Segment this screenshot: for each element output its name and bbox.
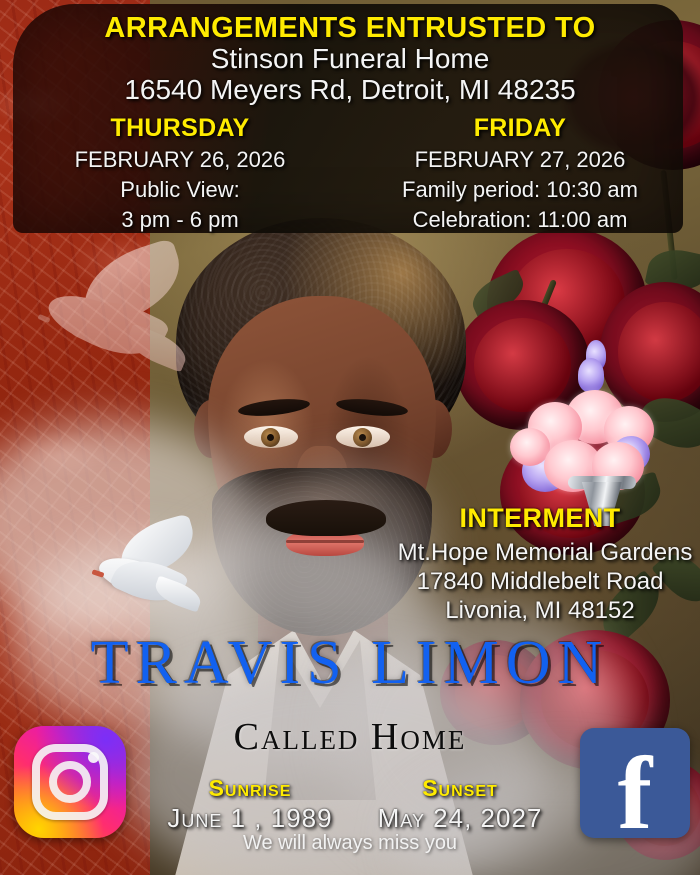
portrait-mouth-line bbox=[286, 540, 364, 543]
service-day-label: FRIDAY bbox=[360, 114, 680, 143]
portrait-mustache bbox=[266, 500, 386, 536]
instagram-lens bbox=[49, 761, 91, 803]
interment-heading: INTERMENT bbox=[390, 505, 690, 533]
dove-beak bbox=[38, 314, 51, 323]
service-detail-line-2: 3 pm - 6 pm bbox=[30, 207, 330, 233]
service-detail-line-1: Family period: 10:30 am bbox=[360, 177, 680, 203]
interment-city: Livonia, MI 48152 bbox=[390, 599, 690, 623]
sunset-date: May 24, 2027 bbox=[350, 803, 570, 834]
portrait-iris bbox=[261, 428, 280, 447]
service-detail-line-2: Celebration: 11:00 am bbox=[360, 207, 680, 233]
farewell-message: We will always miss you bbox=[150, 833, 550, 853]
service-column-friday: FRIDAY FEBRUARY 27, 2026 Family period: … bbox=[360, 114, 680, 233]
flower-bouquet bbox=[500, 340, 680, 525]
facebook-f-glyph: f bbox=[580, 744, 690, 838]
funeral-home-address: 16540 Meyers Rd, Detroit, MI 48235 bbox=[0, 76, 700, 105]
purple-flower bbox=[578, 358, 604, 392]
instagram-flash-dot bbox=[88, 752, 99, 763]
portrait-eye bbox=[336, 426, 390, 448]
sunset-block: Sunset May 24, 2027 bbox=[350, 775, 570, 834]
service-date: FEBRUARY 26, 2026 bbox=[30, 147, 330, 173]
sunrise-block: Sunrise June 1 , 1989 bbox=[140, 775, 360, 834]
portrait-iris bbox=[353, 428, 372, 447]
sunrise-date: June 1 , 1989 bbox=[140, 803, 360, 834]
dove-icon bbox=[28, 250, 193, 390]
dove-icon bbox=[86, 523, 204, 623]
sunrise-label: Sunrise bbox=[140, 775, 360, 802]
instagram-icon[interactable] bbox=[14, 726, 126, 838]
funeral-home-name: Stinson Funeral Home bbox=[0, 45, 700, 74]
sunset-label: Sunset bbox=[350, 775, 570, 802]
service-detail-line-1: Public View: bbox=[30, 177, 330, 203]
deceased-name: TRAVIS LIMON bbox=[0, 632, 700, 695]
service-date: FEBRUARY 27, 2026 bbox=[360, 147, 680, 173]
portrait-eye bbox=[244, 426, 298, 448]
interment-cemetery: Mt.Hope Memorial Gardens bbox=[390, 541, 700, 565]
arrangements-heading: ARRANGEMENTS ENTRUSTED TO bbox=[0, 14, 700, 44]
service-column-thursday: THURSDAY FEBRUARY 26, 2026 Public View: … bbox=[30, 114, 330, 233]
memorial-poster: ARRANGEMENTS ENTRUSTED TO Stinson Funera… bbox=[0, 0, 700, 875]
facebook-icon[interactable]: f bbox=[580, 728, 690, 838]
interment-street: 17840 Middlebelt Road bbox=[390, 570, 690, 594]
service-day-label: THURSDAY bbox=[30, 114, 330, 143]
